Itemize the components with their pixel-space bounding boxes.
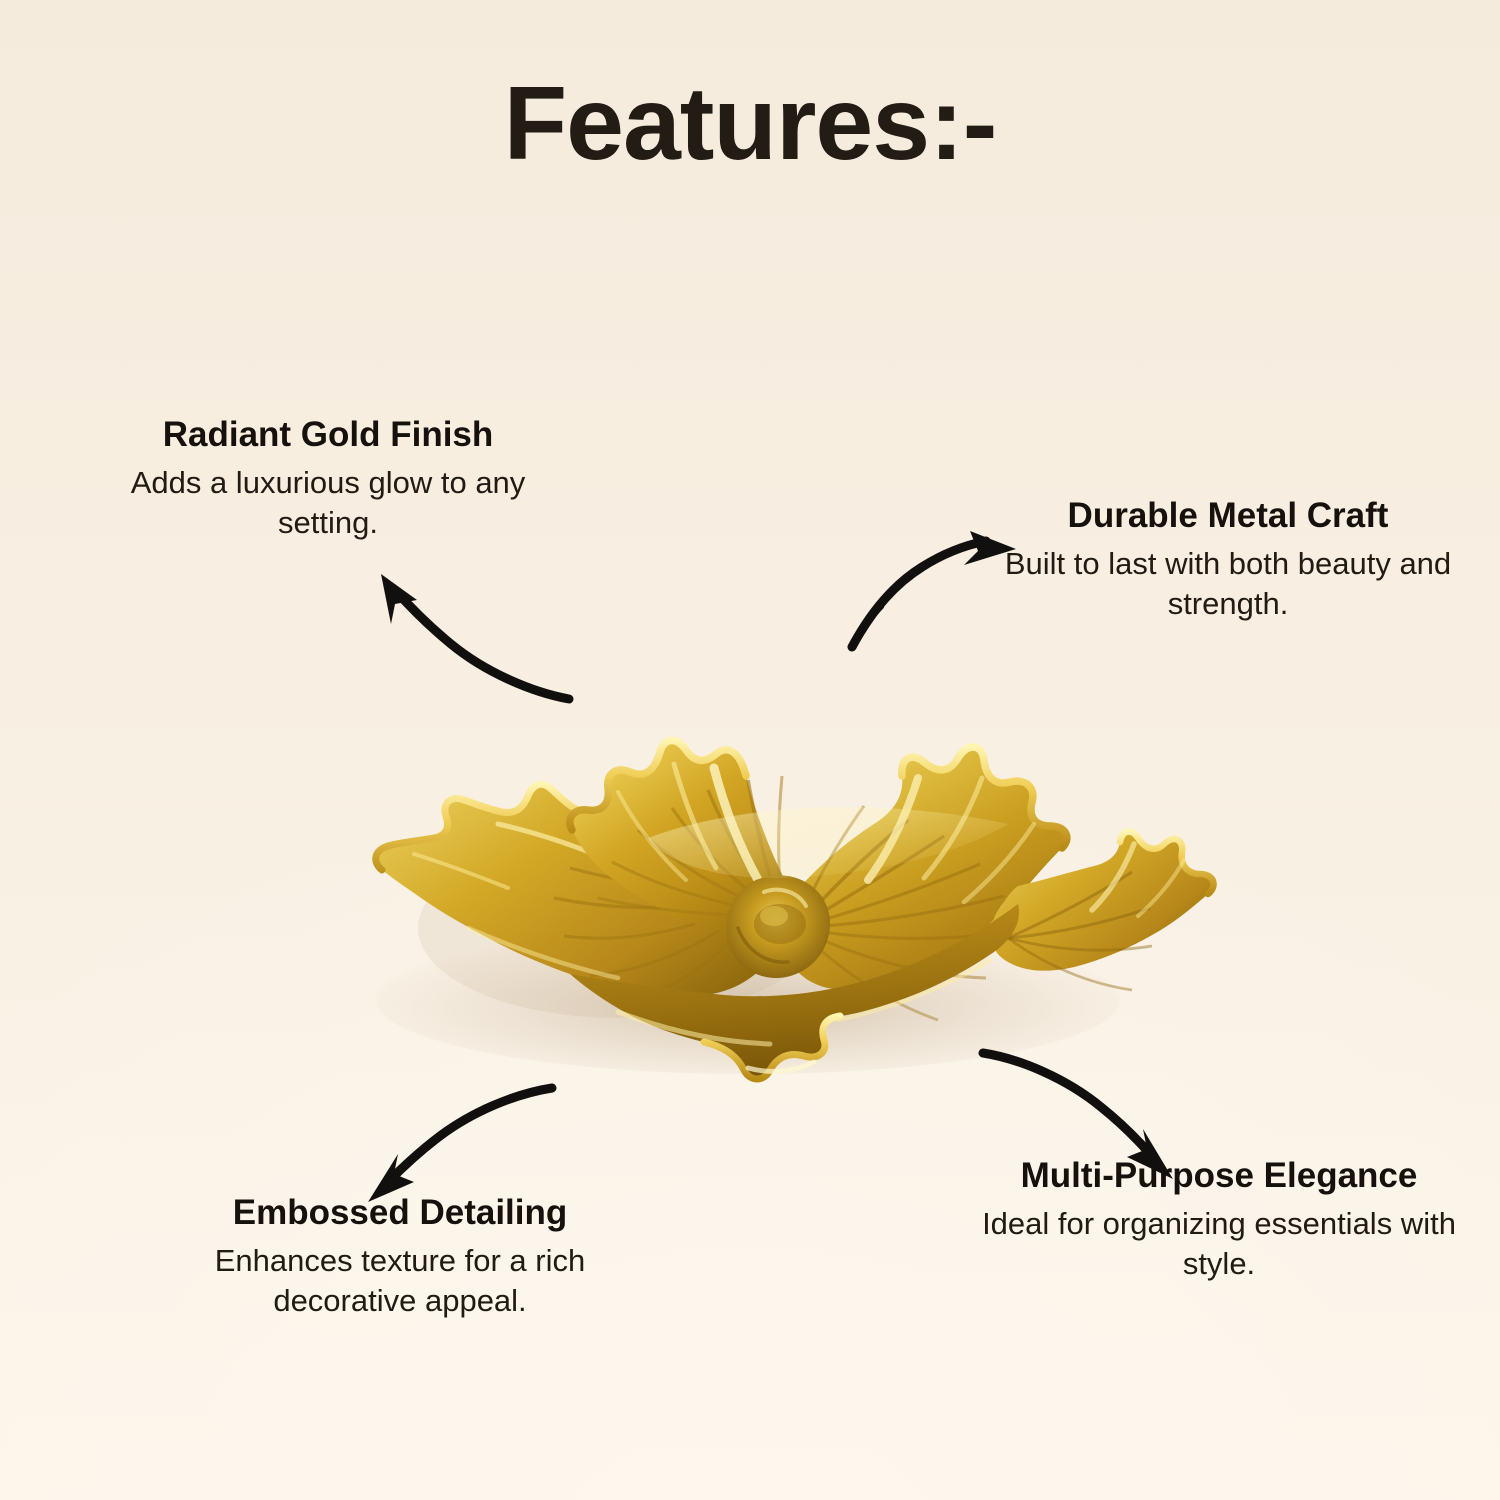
feature-radiant-gold-finish: Radiant Gold Finish Adds a luxurious glo… (78, 414, 578, 543)
feature-description: Ideal for organizing essentials with sty… (950, 1204, 1488, 1285)
feature-title: Radiant Gold Finish (78, 414, 578, 457)
feature-title: Embossed Detailing (150, 1192, 650, 1235)
feature-description: Built to last with both beauty and stren… (972, 544, 1484, 625)
feature-description: Enhances texture for a rich decorative a… (150, 1241, 650, 1322)
feature-multi-purpose-elegance: Multi-Purpose Elegance Ideal for organiz… (950, 1155, 1488, 1284)
feature-durable-metal-craft: Durable Metal Craft Built to last with b… (972, 495, 1484, 624)
feature-title: Multi-Purpose Elegance (950, 1155, 1488, 1198)
infographic-canvas: Features:- (0, 0, 1500, 1500)
product-image (318, 628, 1238, 1088)
page-title: Features:- (0, 66, 1500, 182)
feature-title: Durable Metal Craft (972, 495, 1484, 538)
feature-description: Adds a luxurious glow to any setting. (78, 463, 578, 544)
feature-embossed-detailing: Embossed Detailing Enhances texture for … (150, 1192, 650, 1321)
